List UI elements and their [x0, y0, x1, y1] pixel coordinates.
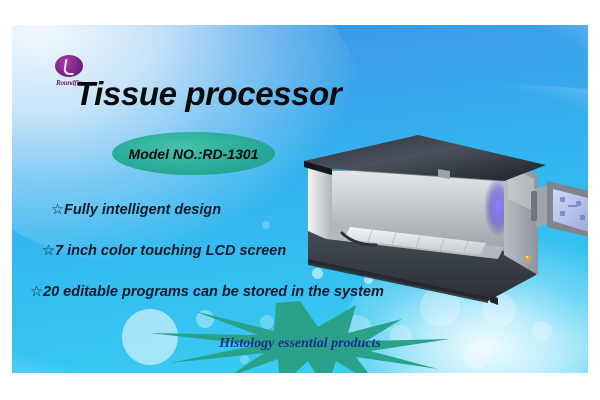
product-image — [298, 135, 588, 310]
model-badge-label: Model NO.:RD-1301 — [129, 146, 259, 162]
feature-item: ☆Fully intelligent design — [51, 201, 221, 219]
feature-label: Fully intelligent design — [64, 202, 221, 218]
machine-foot — [490, 295, 498, 305]
feature-item: ☆7 inch color touching LCD screen — [42, 242, 286, 260]
star-icon: ☆ — [30, 284, 43, 300]
star-icon: ☆ — [51, 202, 64, 218]
page-title: Tissue processor — [75, 75, 341, 113]
feature-label: 7 inch color touching LCD screen — [55, 243, 286, 259]
brass-knob-highlight — [526, 256, 528, 258]
poster-page: Roundfin Tissue processor Model NO.:RD-1… — [0, 0, 600, 400]
lcd-touch-panel — [547, 181, 588, 239]
screen-hinge — [531, 191, 537, 221]
product-banner: Roundfin Tissue processor Model NO.:RD-1… — [12, 25, 588, 373]
star-icon: ☆ — [42, 243, 55, 259]
roundfin-logo-icon — [55, 55, 83, 77]
model-badge: Model NO.:RD-1301 — [112, 132, 275, 175]
brass-knob — [525, 255, 531, 261]
left-side-panel — [308, 163, 332, 239]
